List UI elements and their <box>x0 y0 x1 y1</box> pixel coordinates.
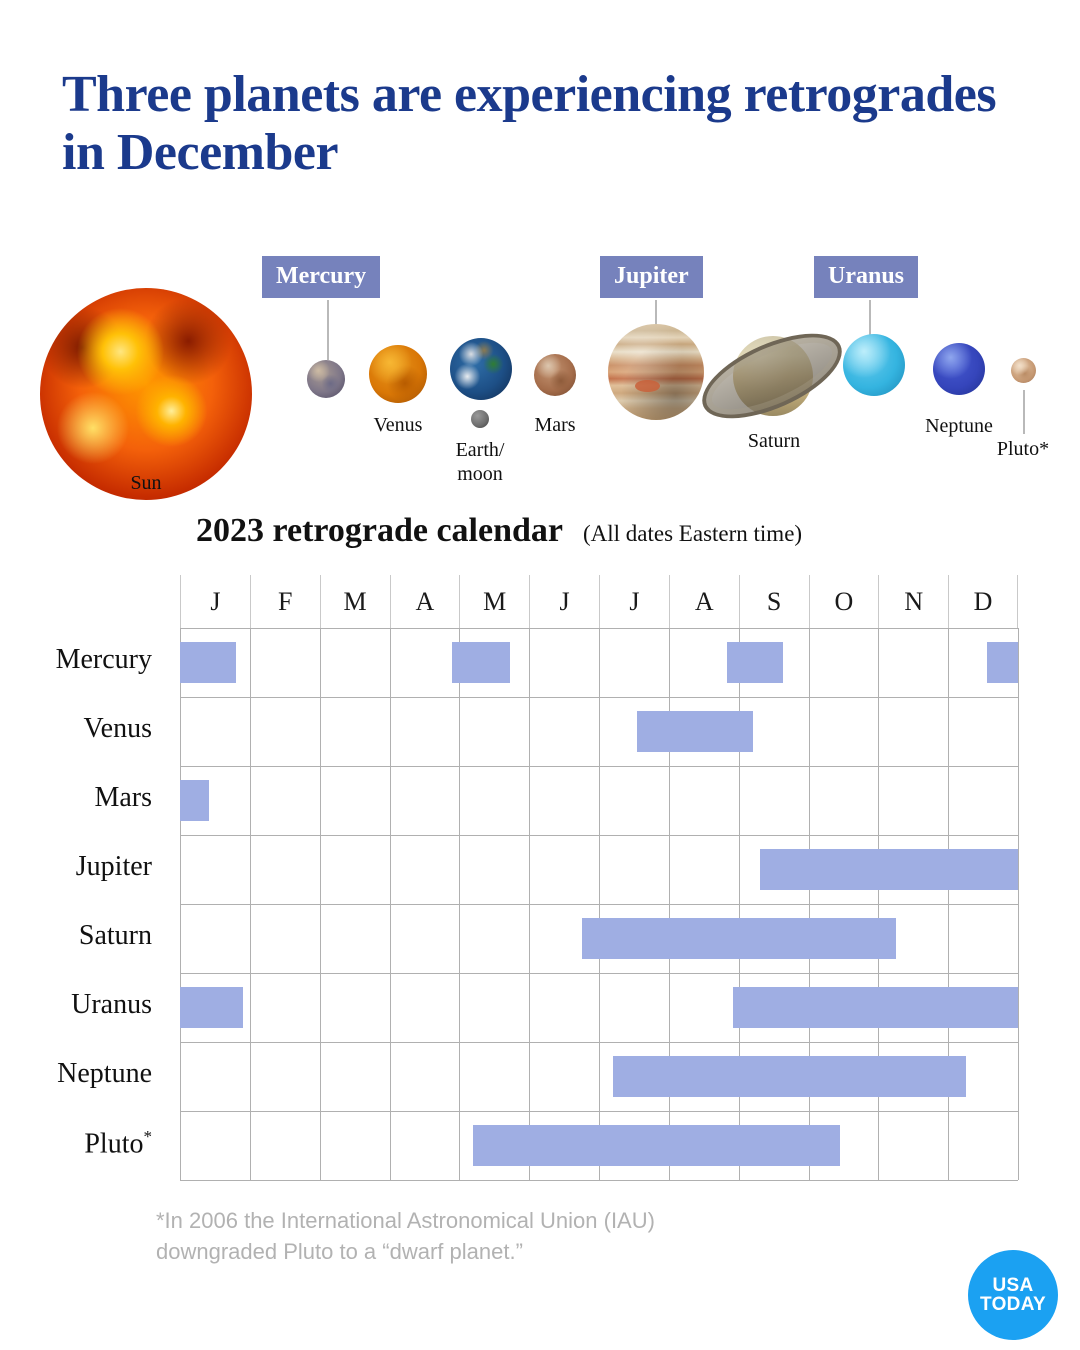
row-label-column: MercuryVenusMarsJupiterSaturnUranusNeptu… <box>0 628 166 1180</box>
callout-badge-mercury: Mercury <box>262 256 380 298</box>
month-header-may: M <box>459 575 529 628</box>
grid-vline <box>809 628 810 1180</box>
page-title: Three planets are experiencing retrograd… <box>62 66 1002 182</box>
month-header-november: N <box>878 575 948 628</box>
month-header-april: A <box>390 575 460 628</box>
month-header-september: S <box>739 575 809 628</box>
retrograde-bar-uranus-2 <box>733 987 1018 1028</box>
pluto-graphic <box>1011 358 1036 383</box>
footnote-line-2: downgraded Pluto to a “dwarf planet.” <box>156 1236 876 1267</box>
saturn-ring-graphic <box>690 316 853 435</box>
grid-vline <box>250 628 251 1180</box>
moon-graphic <box>471 410 489 428</box>
grid-vline <box>320 628 321 1180</box>
retrograde-bar-pluto-1 <box>473 1125 840 1166</box>
retrograde-bar-neptune-1 <box>613 1056 966 1097</box>
retrograde-bar-mercury-4 <box>987 642 1018 683</box>
month-header-july: J <box>599 575 669 628</box>
retrograde-bar-jupiter-1 <box>760 849 1018 890</box>
month-header-january: J <box>180 575 250 628</box>
saturn-label: Saturn <box>735 430 813 452</box>
neptune-graphic <box>933 343 985 395</box>
logo-line-2: TODAY <box>980 1295 1046 1314</box>
earth-label-line1: Earth/ <box>432 439 528 461</box>
sun-label: Sun <box>104 472 188 494</box>
month-header-october: O <box>809 575 879 628</box>
venus-graphic <box>369 345 427 403</box>
retrograde-bar-mars-1 <box>180 780 209 821</box>
callout-badge-jupiter: Jupiter <box>600 256 703 298</box>
grid-vline <box>390 628 391 1180</box>
jupiter-graphic <box>608 324 704 420</box>
month-header-march: M <box>320 575 390 628</box>
sun-graphic <box>40 288 252 500</box>
month-header-february: F <box>250 575 320 628</box>
grid-vline <box>180 628 181 1180</box>
retrograde-bar-saturn-1 <box>582 918 896 959</box>
month-header-june: J <box>529 575 599 628</box>
month-header-row: JFMAMJJASOND <box>180 575 1018 628</box>
mercury-graphic <box>307 360 345 398</box>
pluto-label: Pluto* <box>973 438 1073 460</box>
retrograde-bar-mercury-3 <box>727 642 783 683</box>
row-label-saturn: Saturn <box>0 920 152 952</box>
neptune-label: Neptune <box>911 415 1007 437</box>
logo-line-1: USA <box>992 1276 1033 1295</box>
retrograde-bar-mercury-2 <box>452 642 509 683</box>
month-header-august: A <box>669 575 739 628</box>
callout-leader-pluto <box>1023 390 1025 434</box>
callout-badge-uranus: Uranus <box>814 256 918 298</box>
footnote-line-1: *In 2006 the International Astronomical … <box>156 1205 876 1236</box>
row-label-uranus: Uranus <box>0 989 152 1021</box>
mars-label: Mars <box>517 414 593 436</box>
retrograde-bar-uranus-1 <box>180 987 243 1028</box>
retrograde-bar-mercury-1 <box>180 642 236 683</box>
row-label-jupiter: Jupiter <box>0 851 152 883</box>
calendar-title: 2023 retrograde calendar <box>196 512 563 550</box>
grid-vline <box>529 628 530 1180</box>
grid-vline <box>599 628 600 1180</box>
calendar-note: (All dates Eastern time) <box>583 521 802 547</box>
usa-today-logo[interactable]: USA TODAY <box>968 1250 1058 1340</box>
grid-vline <box>459 628 460 1180</box>
retrograde-bar-venus-1 <box>637 711 752 752</box>
earth-label-line2: moon <box>432 463 528 485</box>
grid-hline <box>180 1180 1018 1181</box>
mars-graphic <box>534 354 576 396</box>
grid-vline <box>948 628 949 1180</box>
solar-system-diagram: Sun Mercury Venus Earth/ moon Mars Jupit… <box>0 240 1080 490</box>
row-label-mercury: Mercury <box>0 644 152 676</box>
row-label-pluto: Pluto* <box>0 1127 152 1160</box>
calendar-header: 2023 retrograde calendar (All dates East… <box>196 512 802 550</box>
retrograde-grid <box>180 628 1018 1180</box>
grid-vline <box>1018 628 1019 1180</box>
row-label-venus: Venus <box>0 713 152 745</box>
uranus-graphic <box>843 334 905 396</box>
month-header-december: D <box>948 575 1018 628</box>
row-label-neptune: Neptune <box>0 1058 152 1090</box>
venus-label: Venus <box>358 414 438 436</box>
callout-leader-mercury <box>327 300 329 360</box>
row-label-mars: Mars <box>0 782 152 814</box>
grid-vline <box>878 628 879 1180</box>
earth-graphic <box>450 338 512 400</box>
footnote: *In 2006 the International Astronomical … <box>156 1205 876 1267</box>
